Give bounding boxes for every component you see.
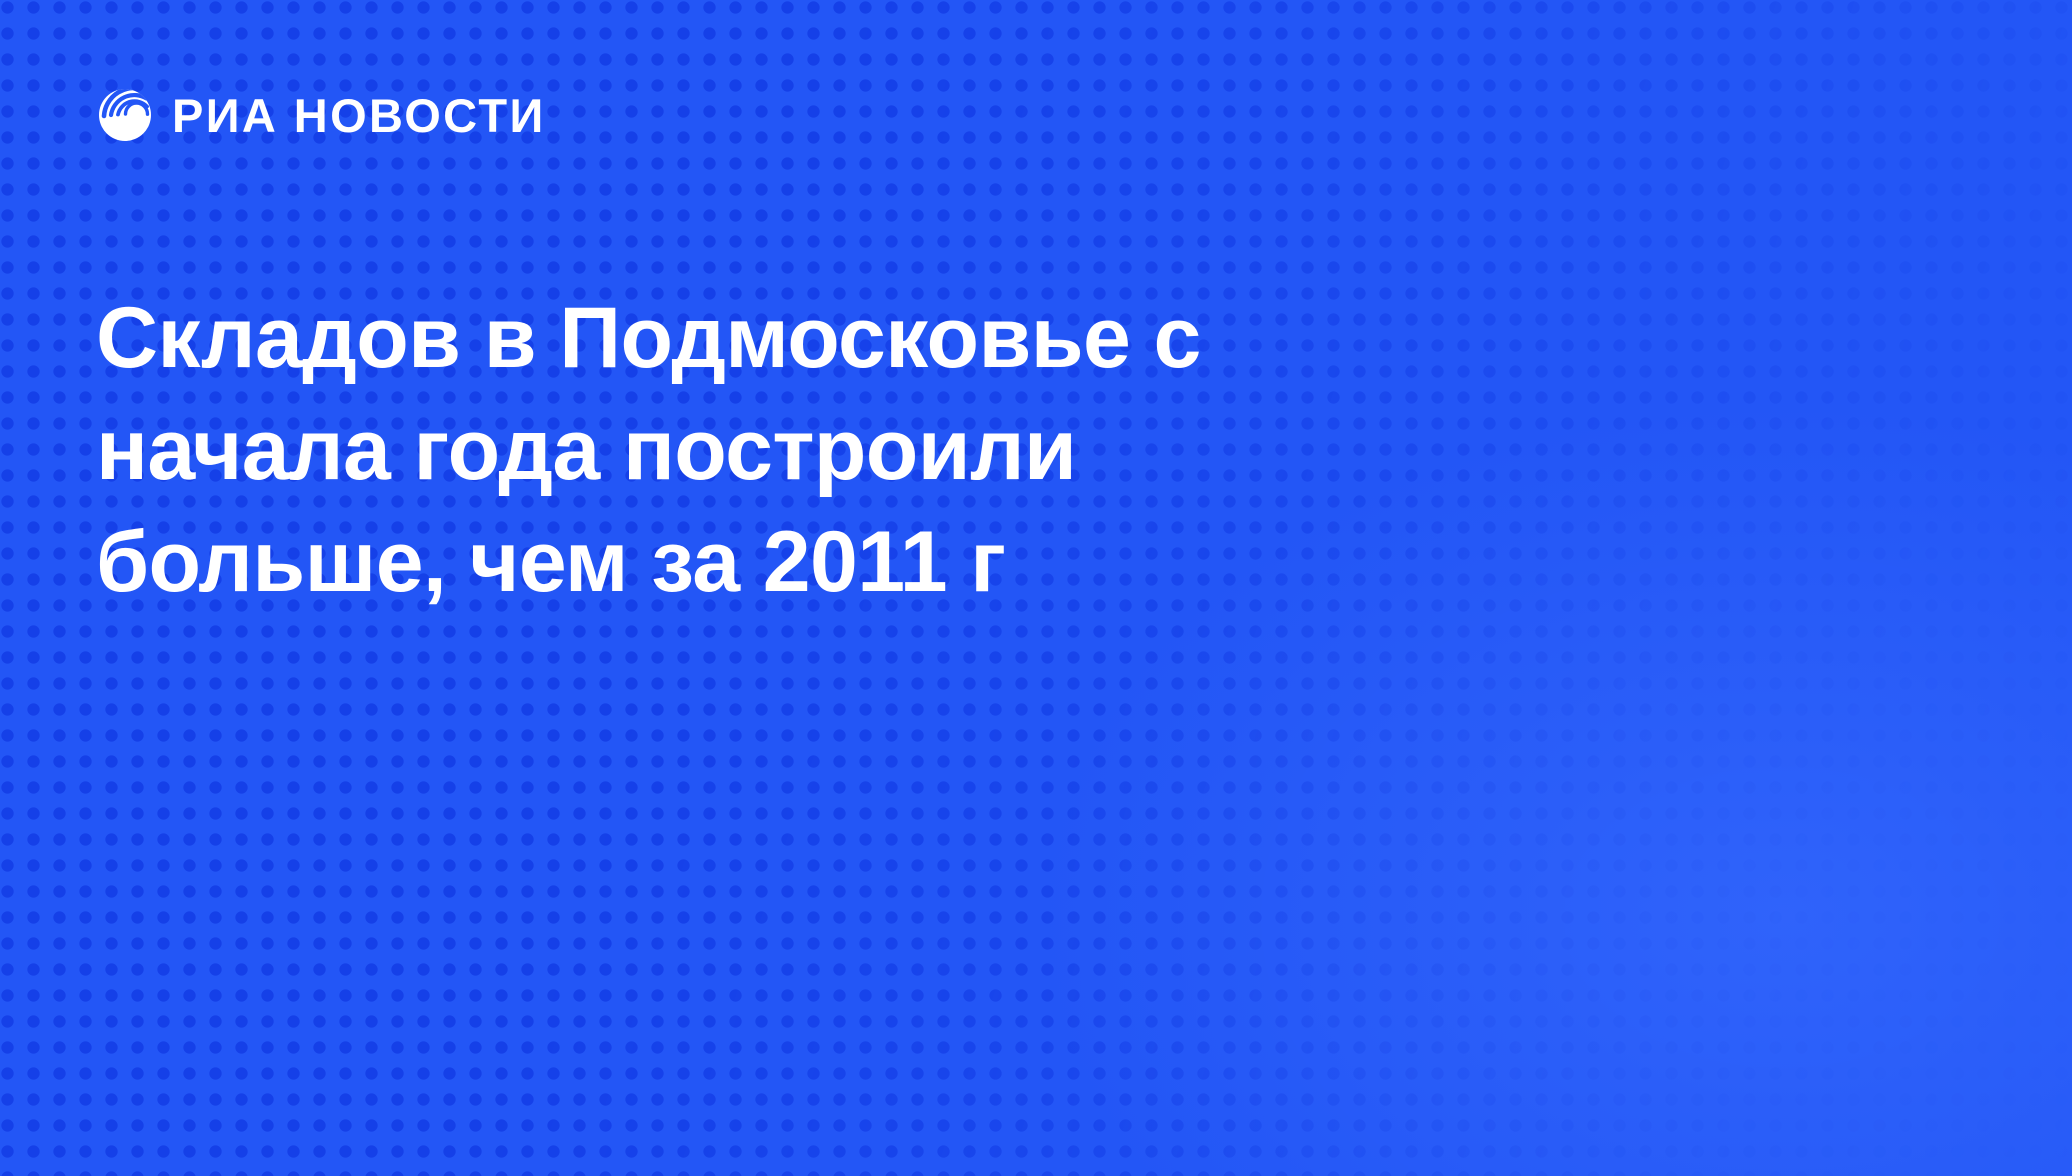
brand-name-label: РИА НОВОСТИ xyxy=(172,92,546,139)
headline-line-3: больше, чем за 2011 г xyxy=(96,506,1496,618)
page-title: Складов в Подмосковье с начала года пост… xyxy=(96,282,1496,619)
headline-line-1: Складов в Подмосковье с xyxy=(96,282,1496,394)
headline-line-2: начала года построили xyxy=(96,394,1496,506)
brand-lockup[interactable]: РИА НОВОСТИ xyxy=(96,84,546,146)
ria-globe-icon xyxy=(96,86,154,144)
news-share-card: РИА НОВОСТИ Складов в Подмосковье с нача… xyxy=(0,0,2072,1176)
card-content: РИА НОВОСТИ Складов в Подмосковье с нача… xyxy=(0,0,2072,1176)
